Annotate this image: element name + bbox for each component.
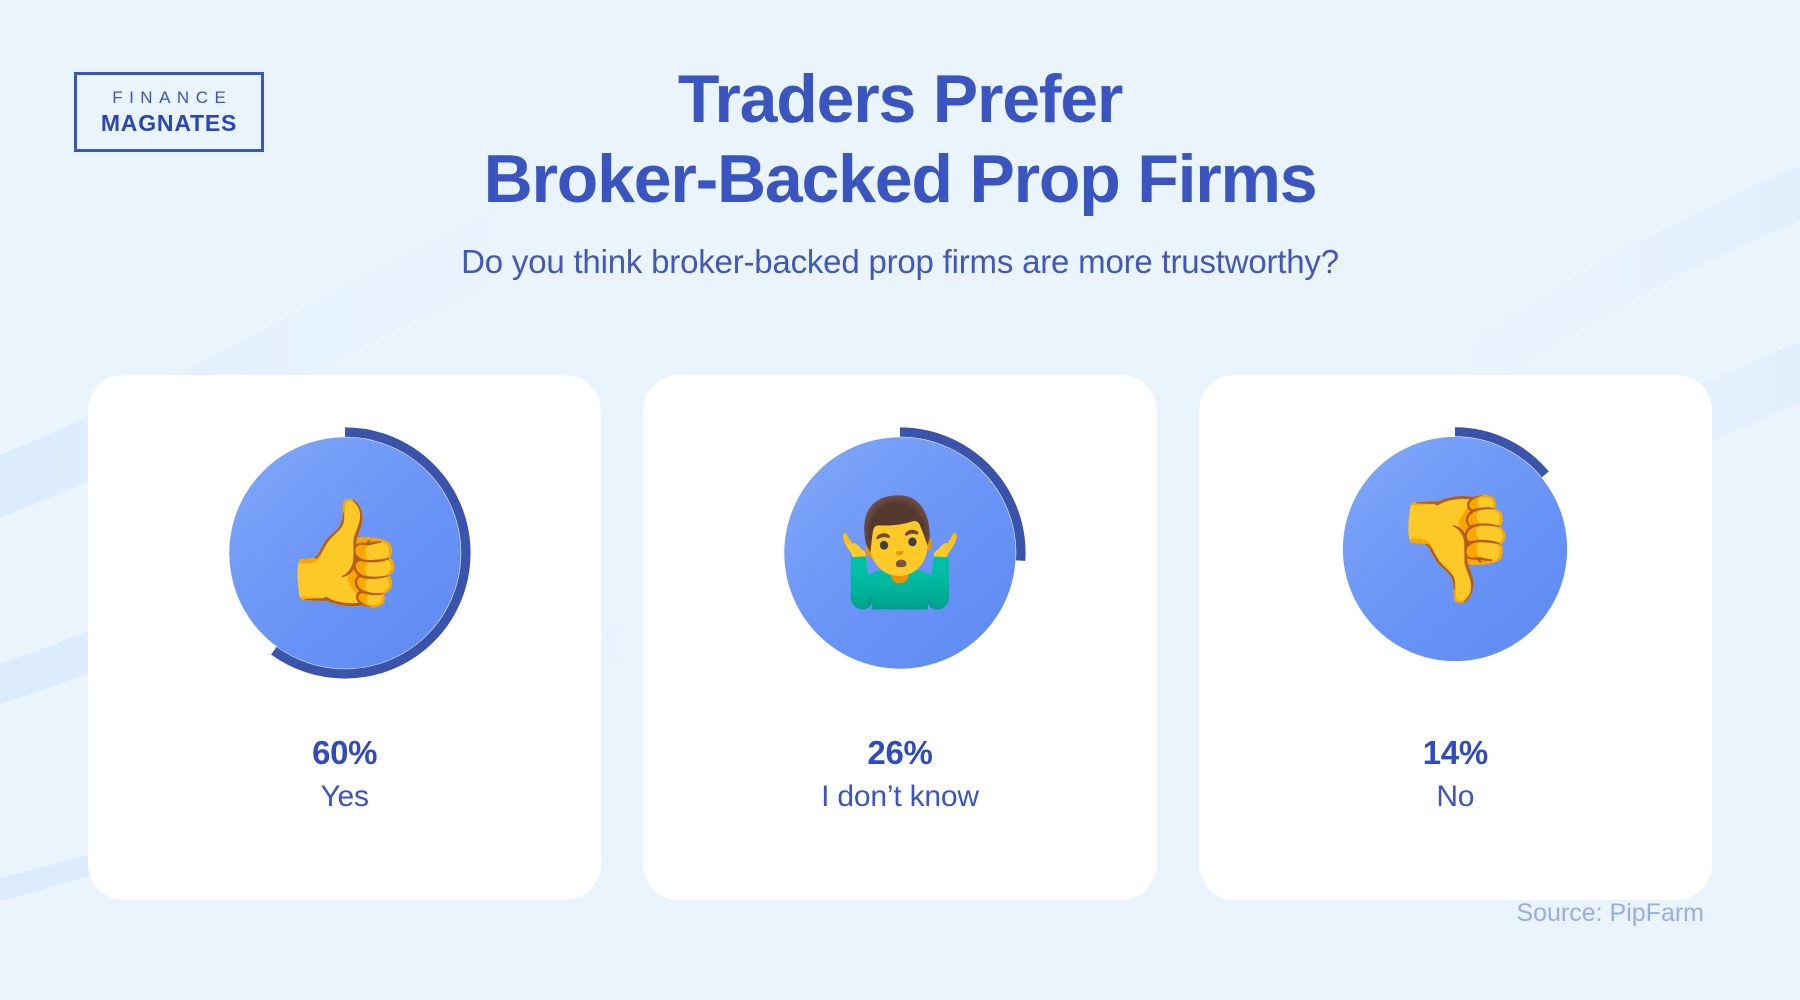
page-title-line-2: Broker-Backed Prop Firms <box>0 140 1800 220</box>
thumbs-down-emoji: 👎 <box>1329 423 1581 675</box>
card-stats-no: 14% No <box>1423 732 1488 816</box>
result-card-no: 👎 14% No <box>1199 375 1712 900</box>
donut-chart-yes: 👍 <box>215 423 475 683</box>
card-stats-i-dont-know: 26% I don’t know <box>821 732 979 816</box>
donut-chart-no: 👎 <box>1329 423 1581 675</box>
logo-text-finance: FINANCE <box>106 88 233 108</box>
card-stats-yes: 60% Yes <box>312 732 377 816</box>
donut-chart-i-dont-know: 🤷‍♂️ <box>770 423 1030 683</box>
percentage-value-no: 14% <box>1423 732 1488 773</box>
header: Traders Prefer Broker-Backed Prop Firms … <box>0 60 1800 281</box>
result-cards: 👍 60% Yes 🤷‍♂️ 26% I <box>88 375 1712 900</box>
answer-label-yes: Yes <box>312 777 377 816</box>
page-subtitle: Do you think broker-backed prop firms ar… <box>0 243 1800 281</box>
answer-label-i-dont-know: I don’t know <box>821 777 979 816</box>
thumbs-up-emoji: 👍 <box>215 423 475 683</box>
shrug-emoji: 🤷‍♂️ <box>770 423 1030 683</box>
page-title: Traders Prefer Broker-Backed Prop Firms <box>0 60 1800 219</box>
logo-text-magnates: MAGNATES <box>101 110 237 136</box>
answer-label-no: No <box>1423 777 1488 816</box>
percentage-value-i-dont-know: 26% <box>821 732 979 773</box>
result-card-i-dont-know: 🤷‍♂️ 26% I don’t know <box>643 375 1156 900</box>
source-attribution: Source: PipFarm <box>1516 899 1704 928</box>
percentage-value-yes: 60% <box>312 732 377 773</box>
finance-magnates-logo: FINANCE MAGNATES <box>74 72 264 152</box>
result-card-yes: 👍 60% Yes <box>88 375 601 900</box>
page-title-line-1: Traders Prefer <box>0 60 1800 140</box>
